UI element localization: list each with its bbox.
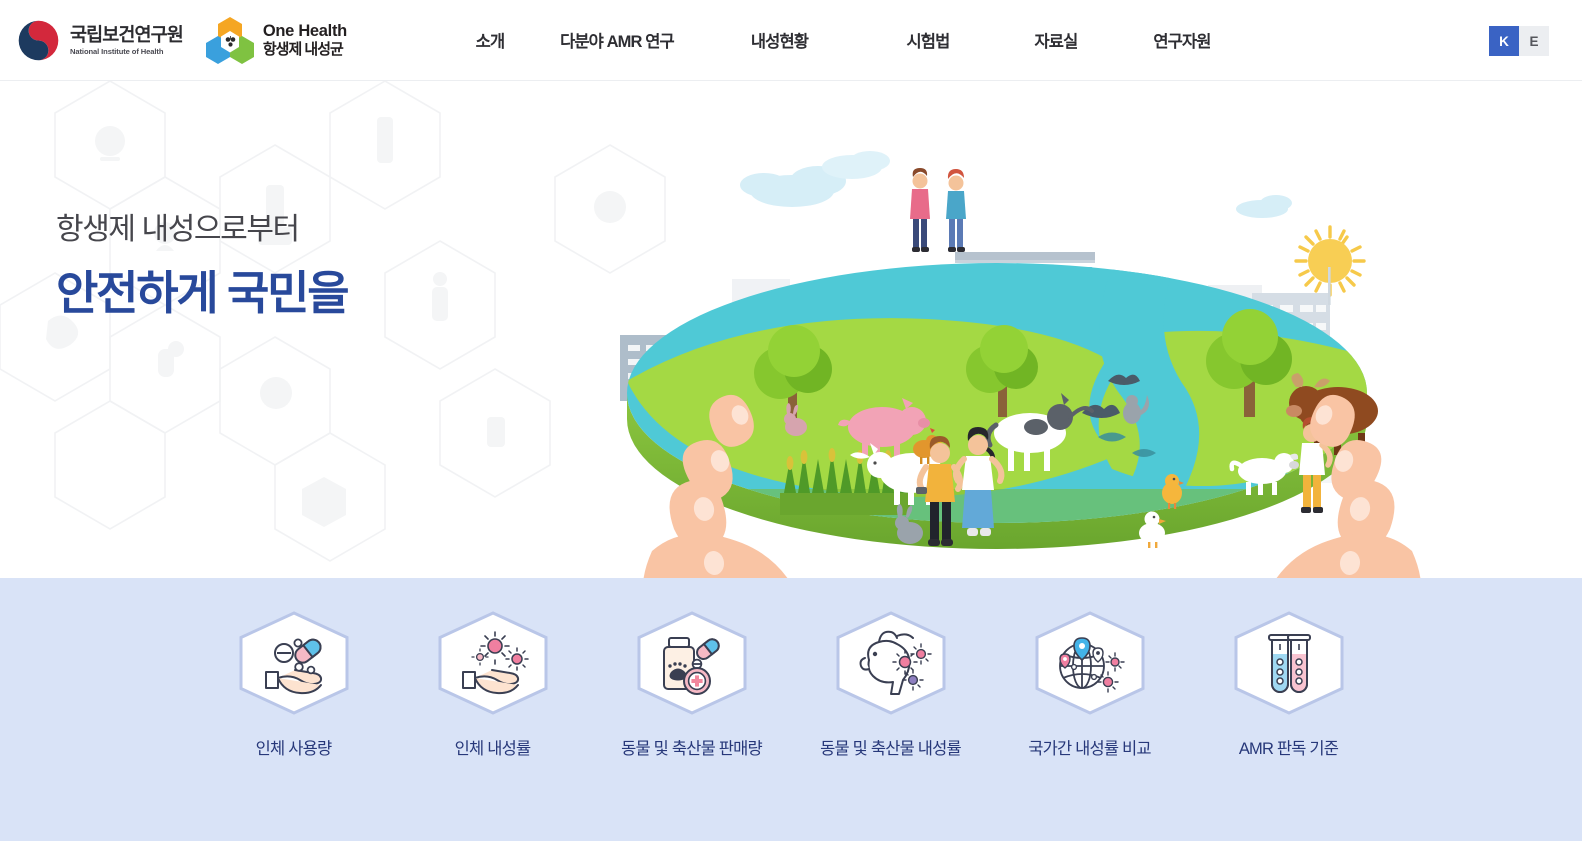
- person-icon-1: [910, 168, 930, 252]
- nav-item-archive[interactable]: 자료실: [994, 28, 1118, 52]
- quick-menu-label: 인체 내성률: [455, 735, 531, 759]
- lang-button-english[interactable]: E: [1519, 26, 1549, 56]
- hero-headline-line2: 안전하게 국민을: [56, 265, 347, 323]
- quick-menu-item-animal-sales[interactable]: 동물 및 축산물 판매량: [592, 610, 791, 759]
- quick-menu-label: AMR 판독 기준: [1239, 735, 1338, 759]
- virus-particle-2: [506, 648, 528, 670]
- main-navigation: 소개 다분야 AMR 연구 내성현황 시험법 자료실 연구자원: [443, 28, 1246, 52]
- globe-pins-virus-icon: [1032, 610, 1148, 716]
- test-tube-blue: [1269, 635, 1291, 692]
- hex-frame: [1032, 610, 1148, 716]
- quick-menu-label: 인체 사용량: [256, 735, 332, 759]
- hex-frame: [236, 610, 352, 716]
- quick-menu-item-country-comparison[interactable]: 국가간 내성률 비교: [990, 610, 1189, 759]
- taeguk-icon: [16, 18, 61, 63]
- site-header: 국립보건연구원 National Institute of Health: [0, 0, 1582, 81]
- one-health-logo-ko: 항생제 내성균: [263, 41, 347, 59]
- hero-illustration: H HOSPITAL: [612, 81, 1452, 578]
- nav-item-research-resources[interactable]: 연구자원: [1118, 28, 1246, 52]
- hex-frame: [634, 610, 750, 716]
- vet-medicine-bottle-icon: [634, 610, 750, 716]
- pig-virus-icon: [833, 610, 949, 716]
- one-health-logo-en: One Health: [263, 21, 347, 41]
- hex-frame: [833, 610, 949, 716]
- nih-logo-ko: 국립보건연구원: [70, 24, 183, 45]
- quick-menu-item-human-resistance[interactable]: 인체 내성률: [393, 610, 592, 759]
- language-switcher: K E: [1489, 26, 1549, 56]
- logo-group: 국립보건연구원 National Institute of Health: [16, 16, 347, 64]
- quick-menu-label: 동물 및 축산물 판매량: [621, 735, 762, 759]
- page-root: 국립보건연구원 National Institute of Health: [0, 0, 1582, 841]
- test-tube-pink: [1288, 635, 1310, 692]
- quick-menu-label: 동물 및 축산물 내성률: [820, 735, 961, 759]
- hero-section: 항생제 내성으로부터 안전하게 국민을: [0, 81, 1582, 578]
- hero-headline-line1: 항생제 내성으로부터: [56, 212, 347, 248]
- hand-pills-icon: [236, 610, 352, 716]
- hero-copy: 항생제 내성으로부터 안전하게 국민을: [56, 212, 347, 323]
- one-health-logo[interactable]: One Health 항생제 내성균: [205, 16, 347, 64]
- test-tubes-icon: [1231, 610, 1347, 716]
- quick-menu-section: 인체 사용량: [0, 578, 1582, 841]
- nav-item-test-method[interactable]: 시험법: [862, 28, 994, 52]
- quick-menu-label: 국가간 내성률 비교: [1028, 735, 1151, 759]
- quick-menu-item-human-usage[interactable]: 인체 사용량: [194, 610, 393, 759]
- hex-frame: [1231, 610, 1347, 716]
- quick-menu-item-amr-criteria[interactable]: AMR 판독 기준: [1189, 610, 1388, 759]
- lang-button-korean[interactable]: K: [1489, 26, 1519, 56]
- one-health-hexagon-icon: [205, 16, 255, 64]
- nav-item-resistance-status[interactable]: 내성현황: [697, 28, 862, 52]
- quick-menu-row: 인체 사용량: [0, 578, 1582, 759]
- nav-item-amr-research[interactable]: 다분야 AMR 연구: [537, 28, 697, 52]
- person-icon-2: [946, 169, 966, 252]
- nih-logo-en: National Institute of Health: [70, 47, 183, 56]
- nih-logo[interactable]: 국립보건연구원 National Institute of Health: [16, 18, 183, 63]
- hand-virus-icon: [435, 610, 551, 716]
- hex-frame: [435, 610, 551, 716]
- clouds-icon: [740, 151, 1292, 218]
- nav-item-intro[interactable]: 소개: [443, 28, 537, 52]
- globe-illustration: [627, 168, 1386, 578]
- quick-menu-item-animal-resistance[interactable]: 동물 및 축산물 내성률: [791, 610, 990, 759]
